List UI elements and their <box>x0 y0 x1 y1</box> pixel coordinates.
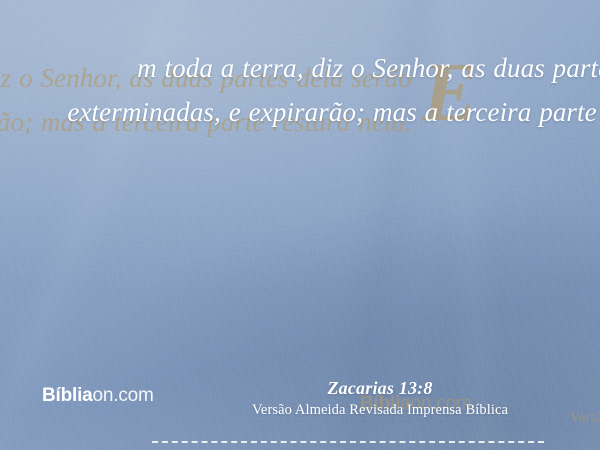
verse-text-block: E m toda a terra, diz o Senhor, as duas … <box>50 46 600 134</box>
footer-dashed-rule <box>152 441 544 443</box>
verse-reference: Zacarias 13:8 <box>180 376 580 400</box>
verse-image-card: E m toda a terra, diz o Senhor, as duas … <box>0 0 600 450</box>
brand-logo-light: on.com <box>93 385 154 406</box>
verse-body-text: m toda a terra, diz o Senhor, as duas pa… <box>67 53 600 127</box>
reference-wrap: Zacarias 13:8 Versão Almeida Revisada Im… <box>180 376 580 420</box>
bible-version: Versão Almeida Revisada Imprensa Bíblica <box>180 400 580 420</box>
brand-logo[interactable]: Bíbliaon.com <box>42 385 154 407</box>
footer: Bíbliaon.com Zacarias 13:8 Versão Almeid… <box>0 376 600 446</box>
brand-logo-bold: Bíblia <box>42 385 93 406</box>
